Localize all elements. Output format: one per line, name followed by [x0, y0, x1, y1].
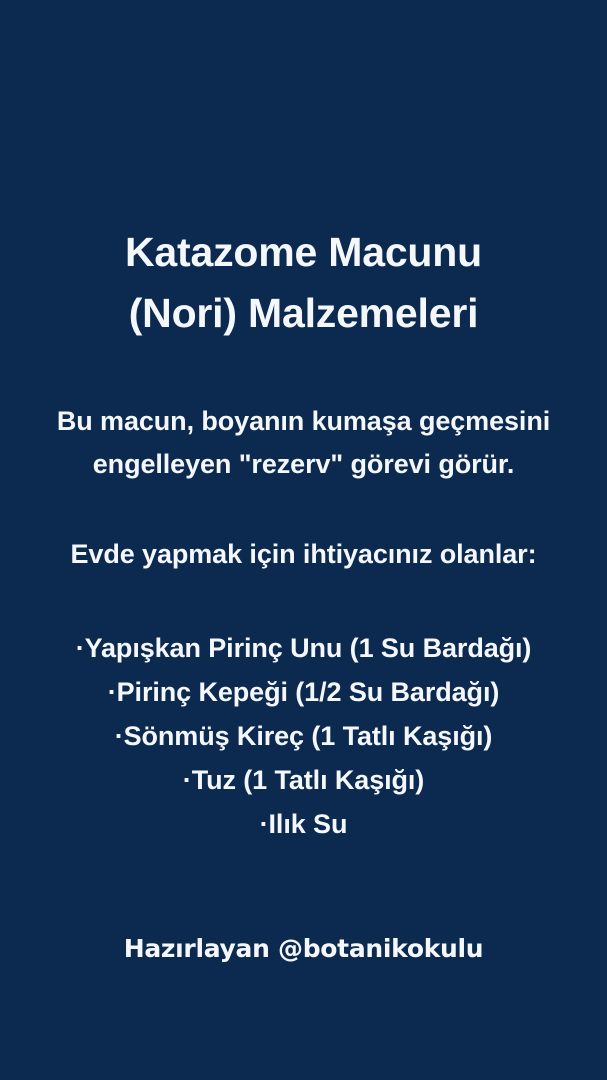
list-item-label: Sönmüş Kireç (1 Tatlı Kaşığı) [124, 721, 493, 751]
ingredients-list: ·Yapışkan Pirinç Unu (1 Su Bardağı) ·Pir… [24, 626, 583, 846]
list-item-label: Tuz (1 Tatlı Kaşığı) [192, 765, 425, 795]
intro-paragraph: Bu macun, boyanın kumaşa geçmesini engel… [24, 400, 583, 486]
bullet-icon: · [108, 677, 117, 707]
page-title: Katazome Macunu (Nori) Malzemeleri [24, 222, 583, 344]
list-item-label: Yapışkan Pirinç Unu (1 Su Bardağı) [85, 633, 532, 663]
list-item: ·Yapışkan Pirinç Unu (1 Su Bardağı) [24, 626, 583, 670]
list-item: ·Tuz (1 Tatlı Kaşığı) [24, 758, 583, 802]
list-item: ·Pirinç Kepeği (1/2 Su Bardağı) [24, 670, 583, 714]
bullet-icon: · [115, 721, 124, 751]
lead-in-text: Evde yapmak için ihtiyacınız olanlar: [24, 534, 583, 574]
credit-footer: Hazırlayan @botanikokulu [24, 932, 583, 966]
list-item-label: Pirinç Kepeği (1/2 Su Bardağı) [117, 677, 500, 707]
ingredients-lead-in: Evde yapmak için ihtiyacınız olanlar: [24, 534, 583, 574]
title-line-1: Katazome Macunu [24, 222, 583, 283]
list-item-label: Ilık Su [269, 809, 348, 839]
credit-text: Hazırlayan @botanikokulu [24, 932, 583, 966]
intro-line-2: engelleyen "rezerv" görevi görür. [24, 443, 583, 486]
bullet-icon: · [183, 765, 192, 795]
recipe-card: Katazome Macunu (Nori) Malzemeleri Bu ma… [0, 0, 607, 1080]
title-line-2: (Nori) Malzemeleri [24, 283, 583, 344]
bullet-icon: · [260, 809, 269, 839]
list-item: ·Ilık Su [24, 802, 583, 846]
bullet-icon: · [76, 633, 85, 663]
intro-line-1: Bu macun, boyanın kumaşa geçmesini [24, 400, 583, 443]
list-item: ·Sönmüş Kireç (1 Tatlı Kaşığı) [24, 714, 583, 758]
